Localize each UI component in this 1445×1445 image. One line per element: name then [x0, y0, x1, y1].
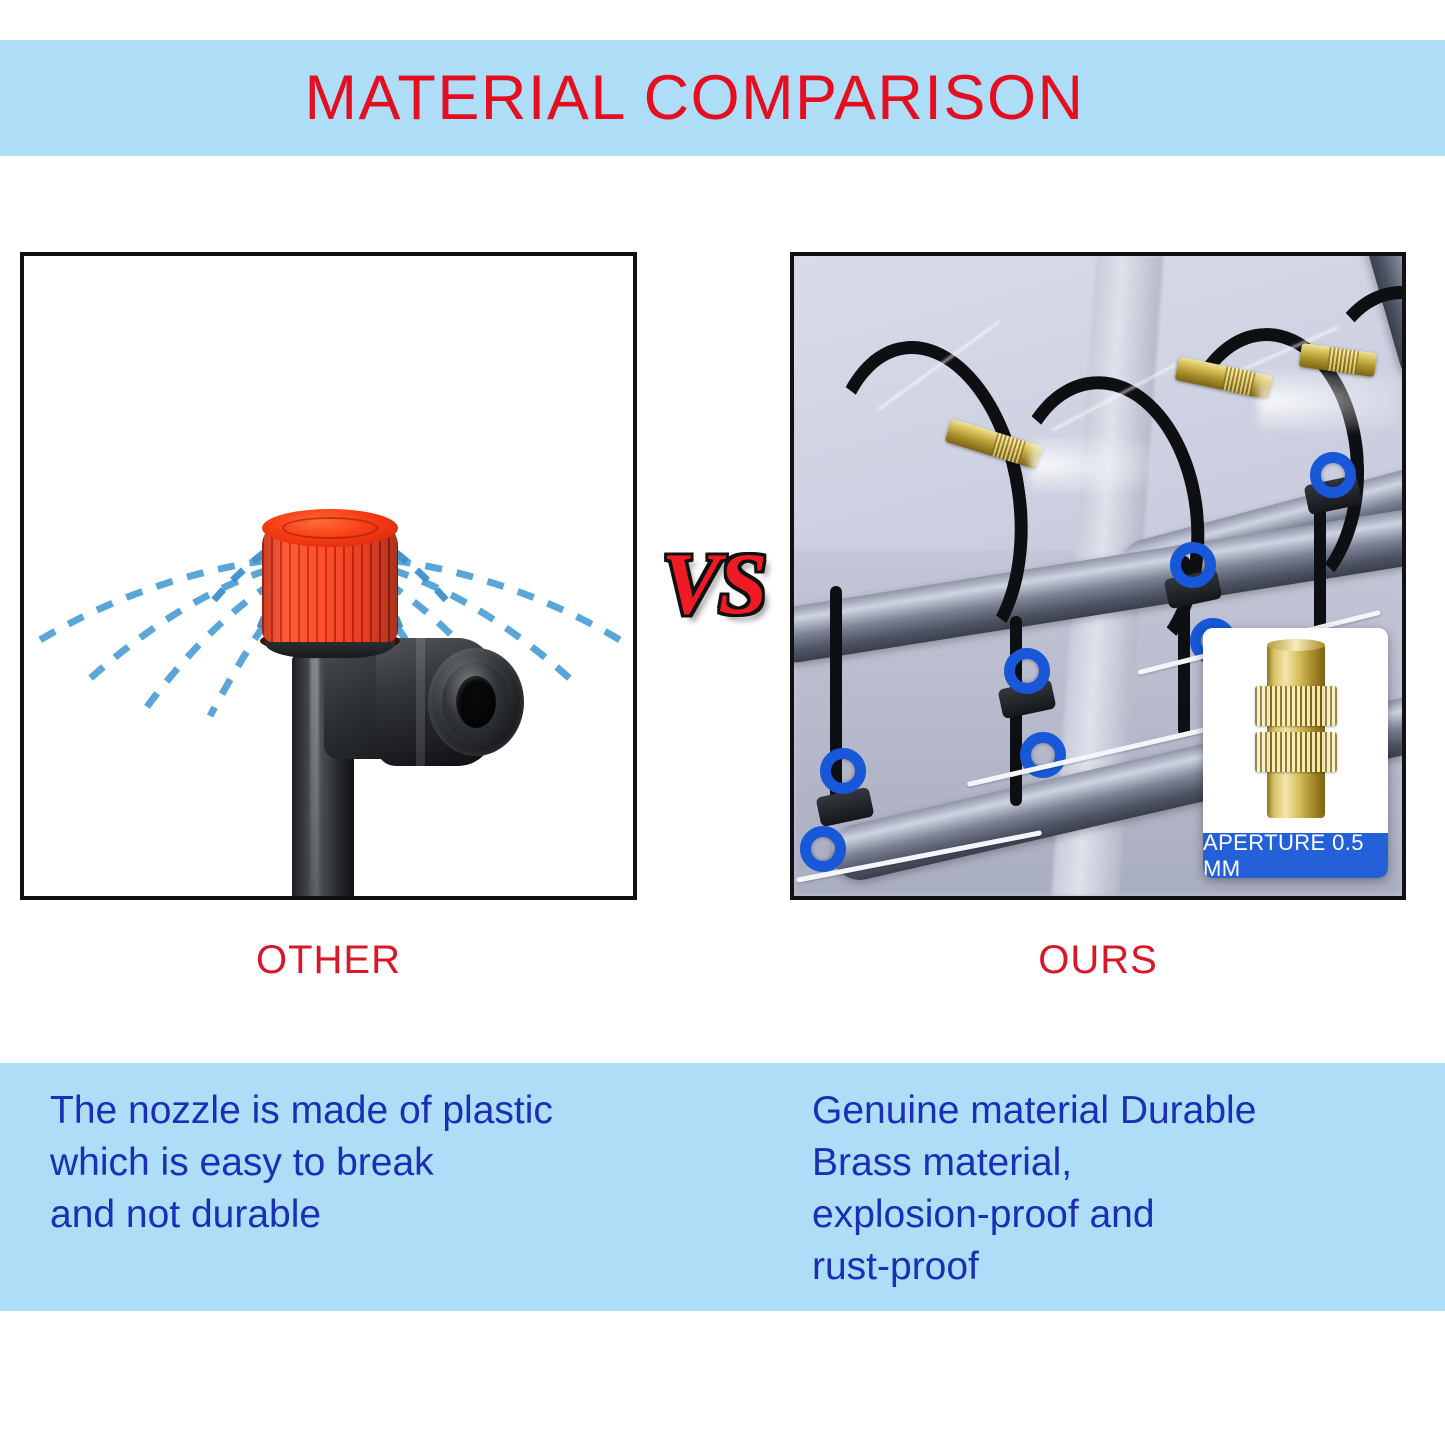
vs-label: VS: [637, 534, 790, 635]
page-title: MATERIAL COMPARISON: [305, 62, 1085, 134]
misting-system-photo: APERTURE 0.5 MM: [794, 256, 1402, 896]
panel-ours: APERTURE 0.5 MM: [790, 252, 1406, 900]
brass-knurled-ring: [1255, 732, 1337, 772]
red-cap-top-ring: [282, 517, 378, 539]
aperture-label: APERTURE 0.5 MM: [1203, 830, 1388, 879]
riser-highlight: [310, 658, 319, 900]
blue-collar-ring: [800, 826, 846, 872]
brass-knurled-ring: [1255, 686, 1337, 726]
sprinkler-socket-hole: [456, 676, 496, 728]
brass-nozzle-closeup-image: [1203, 628, 1388, 833]
plastic-sprinkler-illustration: [24, 256, 633, 896]
water-mist: [1258, 372, 1398, 430]
brass-nozzle-body: [1267, 642, 1325, 818]
caption-other: OTHER: [20, 938, 637, 983]
blue-collar-ring: [1310, 452, 1356, 498]
panel-other: [20, 252, 637, 900]
description-other: The nozzle is made of plastic which is e…: [50, 1085, 710, 1241]
description-ours: Genuine material Durable Brass material,…: [812, 1085, 1412, 1292]
blue-collar-ring: [1170, 542, 1216, 588]
title-banner: MATERIAL COMPARISON: [0, 40, 1445, 156]
description-band: The nozzle is made of plastic which is e…: [0, 1063, 1445, 1311]
comparison-area: VS: [0, 156, 1445, 1061]
blue-collar-ring: [820, 748, 866, 794]
aperture-label-bar: APERTURE 0.5 MM: [1203, 833, 1388, 878]
brass-nozzle-tip: [1267, 639, 1325, 651]
nozzle-closeup-inset: APERTURE 0.5 MM: [1203, 628, 1388, 878]
blue-collar-ring: [1004, 648, 1050, 694]
caption-ours: OURS: [790, 938, 1406, 983]
water-mist: [1030, 438, 1150, 492]
barrel-band: [416, 638, 425, 766]
